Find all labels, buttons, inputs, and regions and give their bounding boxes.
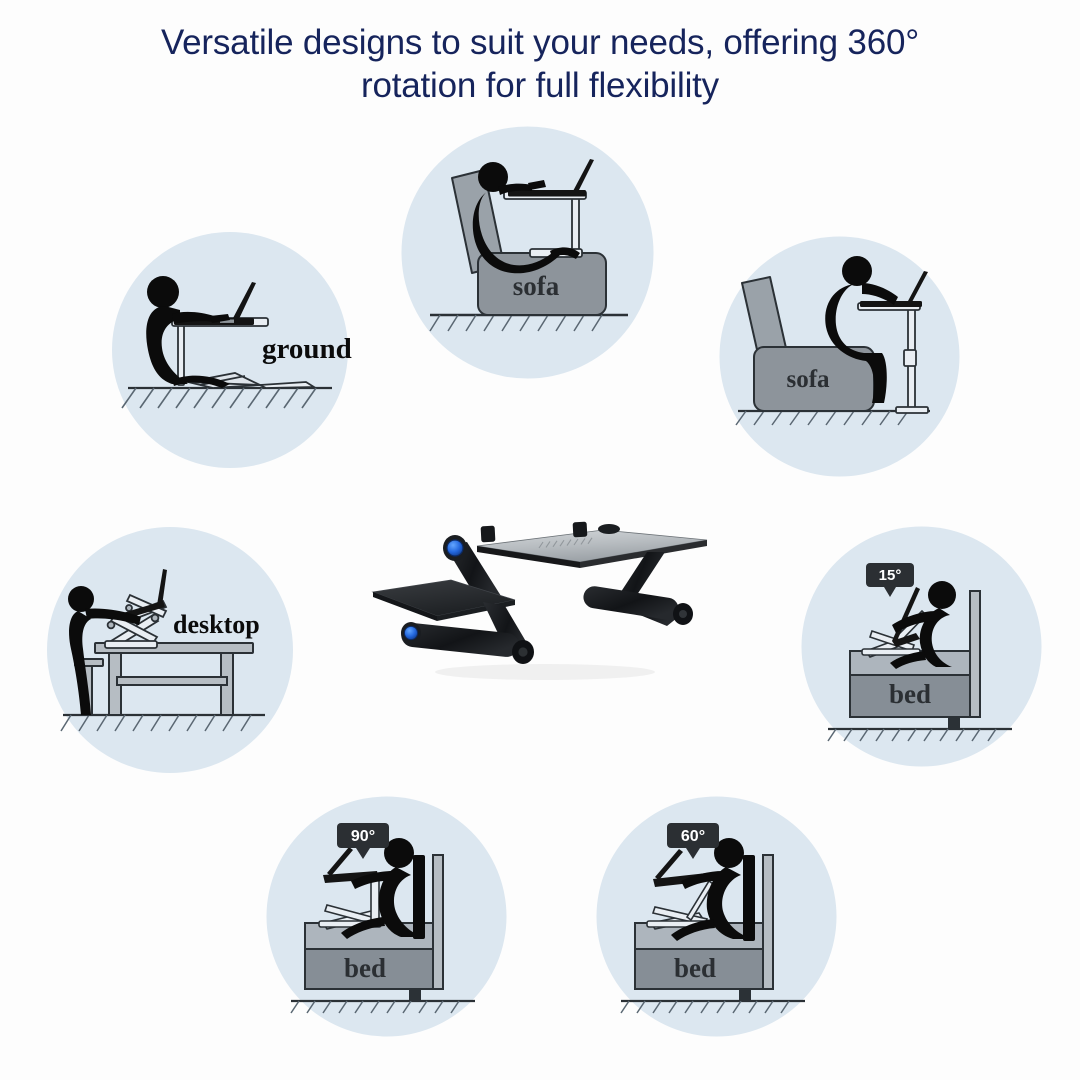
product-top-surface (477, 522, 707, 568)
angle-badge-label: 60° (681, 828, 705, 845)
scene-bed-15: 15° bed (800, 525, 1043, 768)
scene-label-sofa: sofa (513, 271, 560, 301)
scene-sofa-recline: sofa (400, 125, 655, 380)
scene-label-desktop: desktop (173, 610, 260, 639)
scene-label-bed: bed (344, 953, 386, 983)
scene-label-bed: bed (889, 679, 931, 709)
product-image-laptop-desk (355, 500, 720, 695)
scene-bed-60: 60° bed (595, 795, 838, 1038)
infographic-canvas: Versatile designs to suit your needs, of… (0, 0, 1080, 1080)
scene-ground: ground (110, 230, 350, 470)
scene-label-ground: ground (262, 333, 352, 365)
scene-label-bed: bed (674, 953, 716, 983)
scene-label-sofa: sofa (786, 366, 830, 393)
angle-badge-label: 90° (351, 828, 375, 845)
page-title: Versatile designs to suit your needs, of… (0, 22, 1080, 107)
scene-sofa-upright: sofa (718, 235, 961, 478)
scene-desktop: desktop (45, 525, 295, 775)
angle-badge-label: 15° (879, 567, 902, 584)
scene-bed-90: 90° bed (265, 795, 508, 1038)
